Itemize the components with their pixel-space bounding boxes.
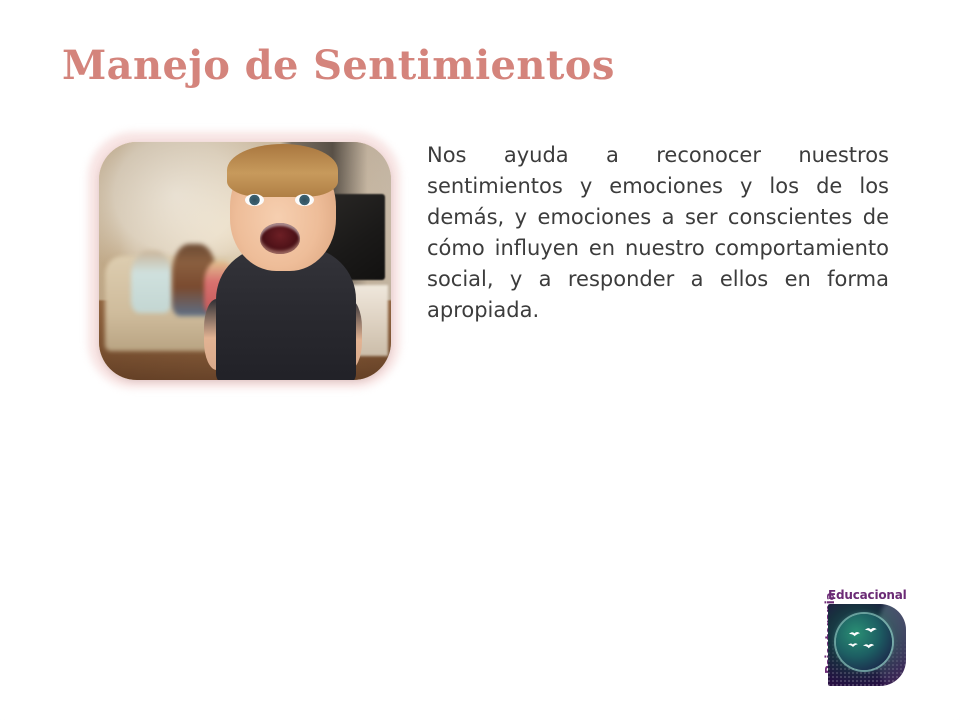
logo-badge <box>828 604 906 686</box>
photo-boy-mouth <box>260 223 301 254</box>
brand-logo: Educacional Psicoterapia <box>806 588 910 688</box>
logo-text-educacional: Educacional <box>828 588 907 602</box>
photo-frame: Niño gritando con expresión de enojo fre… <box>99 142 391 380</box>
photo-person-grandmother <box>131 251 172 313</box>
photo-container: Niño gritando con expresión de enojo fre… <box>88 132 400 388</box>
photo-boy-right-eye <box>295 194 314 206</box>
photo-image <box>99 142 391 380</box>
slide-canvas: Manejo de Sentimientos Niño gritando <box>0 0 960 720</box>
page-title: Manejo de Sentimientos <box>62 42 615 90</box>
body-paragraph: Nos ayuda a reconocer nuestros sentimien… <box>427 140 889 326</box>
photo-boy-hair <box>227 144 338 196</box>
birds-icon <box>836 614 892 670</box>
